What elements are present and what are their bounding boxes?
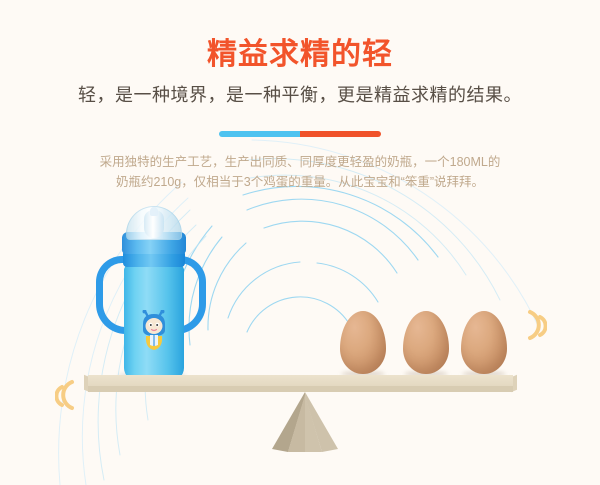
divider-blue-half — [219, 131, 300, 137]
triangular-fulcrum — [272, 392, 338, 452]
bottle-nipple-tip — [150, 207, 158, 216]
section-divider — [219, 131, 381, 137]
header-block: 精益求精的轻 轻，是一种境界，是一种平衡，更是精益求精的结果。 — [0, 0, 600, 106]
page-title: 精益求精的轻 — [0, 0, 600, 72]
divider-orange-half — [300, 131, 381, 137]
page-subtitle: 轻，是一种境界，是一种平衡，更是精益求精的结果。 — [0, 72, 600, 106]
body-paragraph-line-1: 采用独特的生产工艺，生产出同质、同厚度更轻盈的奶瓶，一个180ML的 — [85, 152, 515, 172]
balance-plank — [88, 375, 513, 392]
body-paragraph-line-2: 奶瓶约210g，仅相当于3个鸡蛋的重量。从此宝宝和“笨重”说拜拜。 — [85, 172, 515, 192]
cartoon-baby-bee-decal-icon — [139, 310, 169, 352]
product-feature-page: 精益求精的轻 轻，是一种境界，是一种平衡，更是精益求精的结果。 采用独特的生产工… — [0, 0, 600, 485]
swoosh-left-icon — [55, 378, 83, 412]
egg — [340, 311, 386, 374]
baby-bottle — [97, 206, 205, 381]
body-paragraph: 采用独特的生产工艺，生产出同质、同厚度更轻盈的奶瓶，一个180ML的 奶瓶约21… — [85, 152, 515, 192]
egg — [461, 311, 507, 374]
egg — [403, 311, 449, 374]
swoosh-right-icon — [519, 308, 547, 342]
bottle-handle-left — [96, 256, 126, 334]
plank-top-face — [88, 375, 513, 386]
